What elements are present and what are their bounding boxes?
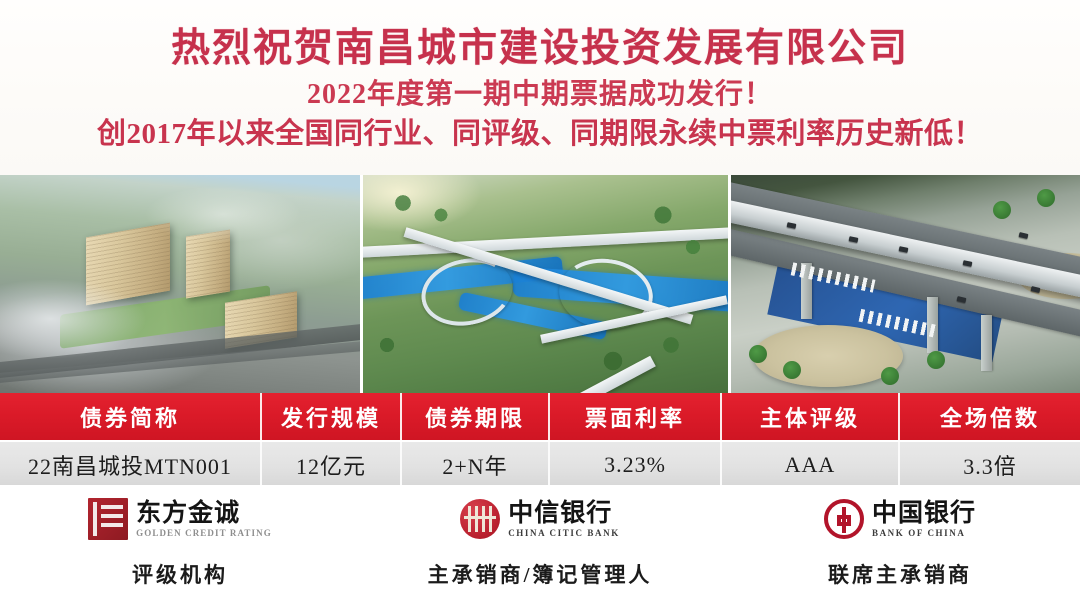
table-header-issuer-rating: 主体评级: [722, 393, 900, 440]
bond-details-table: 债券简称 发行规模 债券期限 票面利率 主体评级 全场倍数 22南昌城投MTN0…: [0, 393, 1080, 485]
headline-line-2: 2022年度第一期中期票据成功发行！: [0, 77, 1080, 113]
golden-credit-rating-wordmark: 东方金诚 GOLDEN CREDIT RATING: [136, 500, 272, 539]
sponsor-bank-of-china: 中国银行 BANK OF CHINA 联席主承销商: [720, 485, 1080, 608]
china-citic-bank-logo-icon: [460, 499, 500, 539]
photo-3-tree: [1037, 189, 1055, 207]
table-cell-issue-size: 12亿元: [262, 442, 402, 487]
photo-3-tree: [783, 361, 801, 379]
sponsor-golden-credit-rating: 东方金诚 GOLDEN CREDIT RATING 评级机构: [0, 485, 360, 608]
announcement-poster: 热烈祝贺南昌城市建设投资发展有限公司 2022年度第一期中期票据成功发行！ 创2…: [0, 0, 1080, 608]
china-citic-bank-logo-lockup: 中信银行 CHINA CITIC BANK: [460, 497, 620, 541]
table-cell-subscription-multiple: 3.3倍: [900, 442, 1080, 487]
table-header-coupon-rate: 票面利率: [550, 393, 722, 440]
sponsor-name-cn: 中国银行: [872, 500, 976, 527]
table-header-bond-name: 债券简称: [0, 393, 262, 440]
headline-line-1: 热烈祝贺南昌城市建设投资发展有限公司: [0, 26, 1080, 72]
sponsor-name-en: GOLDEN CREDIT RATING: [136, 527, 272, 539]
sponsor-role-label: 评级机构: [132, 559, 228, 589]
bank-of-china-wordmark: 中国银行 BANK OF CHINA: [872, 500, 976, 539]
photo-aerial-residential-towers-render: [0, 175, 360, 393]
photo-2-tree-canopy: [363, 175, 728, 393]
table-row: 22南昌城投MTN001 12亿元 2+N年 3.23% AAA 3.3倍: [0, 440, 1080, 487]
table-header-subscription-multiple: 全场倍数: [900, 393, 1080, 440]
photo-strip: [0, 175, 1080, 393]
sponsor-row: 东方金诚 GOLDEN CREDIT RATING 评级机构 中信银行 CHIN…: [0, 485, 1080, 608]
sponsor-name-cn: 东方金诚: [136, 500, 240, 527]
table-header-issue-size: 发行规模: [262, 393, 402, 440]
golden-credit-rating-logo-lockup: 东方金诚 GOLDEN CREDIT RATING: [88, 497, 272, 541]
table-header-row: 债券简称 发行规模 债券期限 票面利率 主体评级 全场倍数: [0, 393, 1080, 440]
photo-elevated-viaduct-roundabout-render: [728, 175, 1080, 393]
sponsor-name-en: CHINA CITIC BANK: [508, 527, 620, 539]
photo-3-tree: [881, 367, 899, 385]
china-citic-bank-wordmark: 中信银行 CHINA CITIC BANK: [508, 500, 620, 539]
photo-3-tree: [749, 345, 767, 363]
photo-1-haze-overlay: [0, 175, 360, 393]
photo-3-tree: [993, 201, 1011, 219]
photo-highway-interchange-over-river-render: [360, 175, 728, 393]
table-cell-bond-term: 2+N年: [402, 442, 550, 487]
sponsor-name-en: BANK OF CHINA: [872, 527, 965, 539]
headline-line-3: 创2017年以来全国同行业、同评级、同期限永续中票利率历史新低！: [0, 115, 1080, 153]
table-header-bond-term: 债券期限: [402, 393, 550, 440]
sponsor-role-label: 联席主承销商: [828, 559, 972, 589]
table-cell-coupon-rate: 3.23%: [550, 442, 722, 487]
table-cell-issuer-rating: AAA: [722, 442, 900, 487]
sponsor-china-citic-bank: 中信银行 CHINA CITIC BANK 主承销商/簿记管理人: [360, 485, 720, 608]
sponsor-name-cn: 中信银行: [508, 500, 612, 527]
photo-3-pier-c: [981, 315, 992, 371]
bank-of-china-logo-icon: [824, 499, 864, 539]
table-cell-bond-name: 22南昌城投MTN001: [0, 442, 262, 487]
sponsor-role-label: 主承销商/簿记管理人: [428, 559, 653, 589]
photo-3-tree: [927, 351, 945, 369]
headline-block: 热烈祝贺南昌城市建设投资发展有限公司 2022年度第一期中期票据成功发行！ 创2…: [0, 0, 1080, 175]
bank-of-china-logo-lockup: 中国银行 BANK OF CHINA: [824, 497, 976, 541]
golden-credit-rating-logo-icon: [88, 498, 128, 540]
